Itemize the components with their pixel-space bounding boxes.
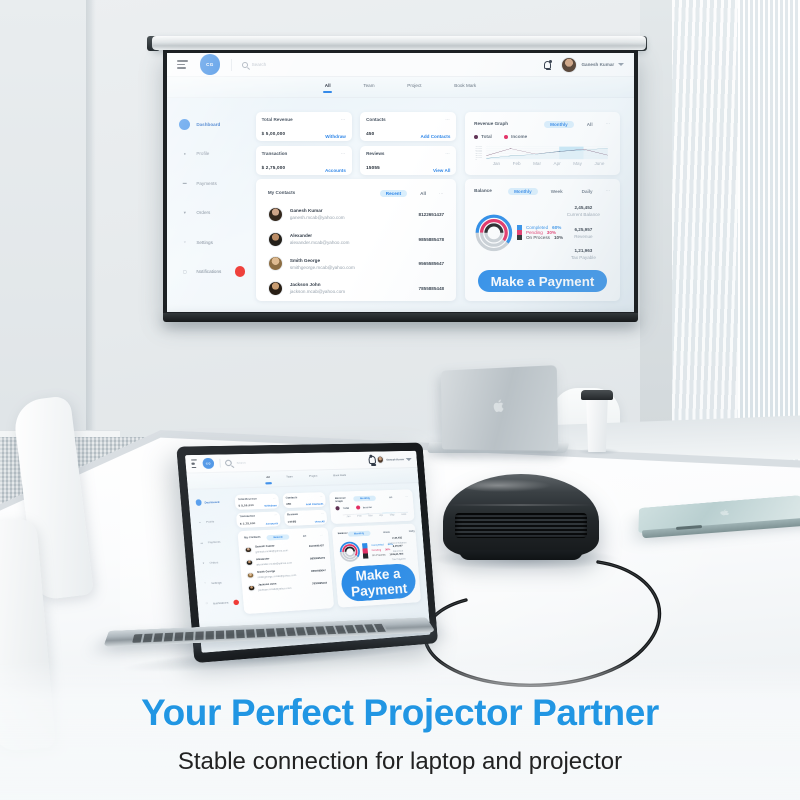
legend-label: On Process xyxy=(526,235,550,240)
sidebar-item-label: Profile xyxy=(206,521,214,525)
contact-name: Jackson John xyxy=(290,282,345,287)
contacts-filter-recent[interactable]: Recent xyxy=(380,190,407,197)
contact-email: alexander.mcab@yahoo.com xyxy=(256,561,292,566)
contact-phone: 7855885448 xyxy=(312,582,327,586)
make-a-payment-button[interactable]: Make a Payment xyxy=(478,270,606,292)
dashboard-icon xyxy=(179,119,190,130)
search-input[interactable]: Search xyxy=(242,59,322,70)
app-logo: CG xyxy=(203,458,215,469)
sidebar-item-payments[interactable]: ▬ Payments xyxy=(179,178,245,189)
product-marketing-image: CG Search Ganesh Kumar All Team xyxy=(0,0,800,800)
x-tick: Apr xyxy=(379,514,383,517)
chart-title: Revenue Graph xyxy=(474,121,508,126)
topbar-divider xyxy=(231,59,232,71)
more-icon[interactable]: ⋯ xyxy=(405,495,408,498)
projector-screen: CG Search Ganesh Kumar All Team xyxy=(163,50,638,315)
view-all-link[interactable]: View All xyxy=(315,520,325,524)
contacts-filter-all[interactable]: All xyxy=(414,190,432,197)
x-tick: Mar xyxy=(533,161,541,166)
notifications-icon[interactable] xyxy=(368,456,372,464)
legend-label: Total xyxy=(481,134,492,139)
projector-highlight xyxy=(462,479,552,492)
search-icon xyxy=(225,460,232,467)
avatar xyxy=(248,584,255,591)
search-placeholder: Search xyxy=(236,461,245,464)
x-tick: Apr xyxy=(554,161,561,166)
withdraw-link[interactable]: Withdraw xyxy=(325,134,346,139)
coffee-cup xyxy=(584,396,610,452)
card-title: My Contacts xyxy=(268,190,295,195)
contact-phone: 9855885478 xyxy=(419,237,445,242)
projected-dashboard: CG Search Ganesh Kumar All Team xyxy=(167,53,634,312)
revenue-graph-card: Revenue Graph Monthly All ⋯ xyxy=(465,112,620,175)
sidebar-item-label: Payments xyxy=(208,541,221,545)
more-icon[interactable]: ⋯ xyxy=(445,151,450,157)
sidebar-item-label: Dashboard xyxy=(196,122,220,127)
user-name: Ganesh Kumar xyxy=(581,62,614,67)
my-contacts-card: My Contacts Recent All ⋯ Ganes xyxy=(256,179,456,300)
list-item[interactable]: Alexander alexander.mcab@yahoo.com 98558… xyxy=(246,554,326,567)
more-icon[interactable]: ⋯ xyxy=(319,495,322,498)
page-subtitle: Stable connection for laptop and project… xyxy=(0,748,800,776)
projector-seam xyxy=(449,504,593,506)
dashboard-icon xyxy=(195,500,201,506)
kpi-card-contacts: Contacts ⋯ 450 Add Contacts xyxy=(360,112,456,141)
tab-team[interactable]: Team xyxy=(363,83,374,91)
card-title: Transaction xyxy=(239,515,255,519)
sidebar-item-dashboard[interactable]: Dashboard xyxy=(195,499,230,506)
list-item[interactable]: Ganesh Kumar ganesh.mcab@yahoo.com 81226… xyxy=(245,542,325,554)
window-curtain-highlight xyxy=(738,0,800,470)
more-icon[interactable]: ⋯ xyxy=(606,121,611,127)
kpi-card-total-revenue: Total Revenue ⋯ $ 5,00,000 Withdraw xyxy=(256,112,352,141)
withdraw-link[interactable]: Withdraw xyxy=(264,504,277,508)
x-tick: Jan xyxy=(493,161,500,166)
my-contacts-card: My Contacts Recent All ⋯ Ganesh xyxy=(238,527,334,613)
sidebar-item-profile[interactable]: ● Profile xyxy=(197,519,232,526)
contact-phone: 9855885478 xyxy=(310,557,325,561)
chart-filter-monthly[interactable]: Monthly xyxy=(544,121,574,128)
avatar[interactable] xyxy=(376,456,384,464)
cart-icon: ▼ xyxy=(179,207,190,218)
contacts-filter-recent[interactable]: Recent xyxy=(267,534,290,540)
projector-base xyxy=(459,550,584,560)
card-title: Balance xyxy=(474,188,492,193)
balance-card: Balance Monthly Week Daily ⋯ xyxy=(465,179,620,300)
stat-current-balance: 2,45,452 Current Balance xyxy=(556,205,611,217)
tab-project[interactable]: Project xyxy=(407,83,421,91)
balance-filter-monthly[interactable]: Monthly xyxy=(348,530,371,536)
svg-text:7000: 7000 xyxy=(476,147,484,148)
chart-plot-area: 01000200030004000500060007000 xyxy=(474,146,611,161)
stat-value: 6,25,957 xyxy=(383,544,412,548)
card-title: Reviews xyxy=(366,151,384,156)
card-title: Contacts xyxy=(366,117,386,122)
contact-name: Alexander xyxy=(290,233,350,238)
x-tick: Mar xyxy=(368,514,373,517)
sidebar-item-orders[interactable]: ▼ Orders xyxy=(200,559,235,566)
search-icon xyxy=(242,62,248,68)
gear-icon: ○ xyxy=(179,236,190,247)
legend-label: Income xyxy=(511,134,527,139)
contact-email: jackson.mcab@yahoo.com xyxy=(258,587,291,592)
add-contacts-link[interactable]: Add Contacts xyxy=(306,503,324,507)
gear-icon: ○ xyxy=(202,581,208,587)
card-title: Total Revenue xyxy=(238,497,257,501)
sidebar-item-settings[interactable]: ○ Settings xyxy=(202,579,237,587)
sidebar-item-settings[interactable]: ○ Settings xyxy=(179,236,245,247)
svg-text:3000: 3000 xyxy=(476,154,484,155)
more-icon[interactable]: ⋯ xyxy=(445,117,450,123)
avatar xyxy=(268,207,283,222)
status-badge xyxy=(233,599,239,605)
kpi-card-contacts: Contacts⋯ 450 Add Contacts xyxy=(283,492,326,508)
x-tick: Feb xyxy=(513,161,521,166)
tab-bookmark[interactable]: Book Mark xyxy=(454,83,476,91)
balance-donut-chart xyxy=(338,540,361,563)
contact-name: Jackson John xyxy=(258,581,291,586)
chart-filter-all[interactable]: All xyxy=(581,121,599,128)
card-title: Transaction xyxy=(262,151,288,156)
more-icon[interactable]: ⋯ xyxy=(274,514,278,517)
sidebar-item-orders[interactable]: ▼ Orders xyxy=(179,207,245,218)
card-icon: ▬ xyxy=(179,178,190,189)
apple-logo-icon xyxy=(493,398,506,413)
kpi-card-transaction: Transaction⋯ $ 2,75,000 Accounts xyxy=(236,512,281,528)
avatar xyxy=(246,559,253,566)
apple-logo-icon xyxy=(718,509,731,517)
balance-card: Balance Monthly Week Daily xyxy=(332,524,421,608)
list-item[interactable]: Jackson John jackson.mcab@yahoo.com 7855… xyxy=(248,579,327,592)
sidebar-item-label: Payments xyxy=(196,181,216,186)
view-all-link[interactable]: View All xyxy=(433,168,450,173)
x-tick: June xyxy=(594,161,604,166)
balance-filter-week[interactable]: Week xyxy=(545,188,569,195)
list-item[interactable]: Alexander alexander.mcab@yahoo.com 98558… xyxy=(268,232,444,247)
contact-phone: 8122651437 xyxy=(419,212,445,217)
stat-value: 6,25,957 xyxy=(556,227,611,232)
legend-label: Income xyxy=(363,506,372,509)
tab-project[interactable]: Project xyxy=(309,475,318,481)
status-badge xyxy=(235,266,246,277)
chart-filter-all[interactable]: All xyxy=(383,495,399,501)
contact-name: Ganesh Kumar xyxy=(290,208,345,213)
more-icon[interactable]: ⋯ xyxy=(321,512,324,515)
portable-projector[interactable] xyxy=(443,474,599,556)
balance-stats: 2,45,452 Current Balance 6,25,957 Revenu… xyxy=(556,200,611,264)
user-name: Ganesh Kumar xyxy=(386,458,404,461)
kpi-card-transaction: Transaction ⋯ $ 2,75,000 Accounts xyxy=(256,146,352,175)
stat-value: 1,21,963 xyxy=(384,553,413,558)
notifications-icon[interactable] xyxy=(544,61,551,69)
sidebar-item-label: Profile xyxy=(196,151,209,156)
legend-income: Income xyxy=(504,134,527,139)
contact-phone: 8122651437 xyxy=(309,544,324,548)
stat-value: 2,45,452 xyxy=(383,536,412,540)
balance-filter-daily[interactable]: Daily xyxy=(576,188,599,195)
dashboard-cards: Total Revenue ⋯ $ 5,00,000 Withdraw Cont… xyxy=(256,112,620,301)
chevron-down-icon[interactable] xyxy=(406,458,412,461)
svg-text:4000: 4000 xyxy=(476,152,484,153)
sidebar-item-notifications[interactable]: ▢ Notifications xyxy=(179,266,245,277)
search-input[interactable]: Search xyxy=(225,458,267,467)
x-tick: May xyxy=(573,161,582,166)
balance-filter-week[interactable]: Week xyxy=(377,529,396,535)
card-title: My Contacts xyxy=(244,535,261,539)
make-a-payment-button[interactable]: Make a Payment xyxy=(340,563,416,602)
avatar xyxy=(247,572,254,579)
legend-label: Completed xyxy=(371,543,384,547)
background-macbook xyxy=(441,365,558,451)
contact-name: Alexander xyxy=(256,556,292,561)
user-icon: ● xyxy=(179,148,190,159)
topbar-divider xyxy=(219,459,221,468)
sidebar-item-profile[interactable]: ● Profile xyxy=(179,148,245,159)
card-title: Contacts xyxy=(286,496,298,500)
tab-team[interactable]: Team xyxy=(286,475,293,481)
contact-email: ganesh.mcab@yahoo.com xyxy=(290,215,345,220)
projector-screen-weight-bar xyxy=(163,313,638,322)
accounts-link[interactable]: Accounts xyxy=(266,522,279,526)
sidebar-item-notifications[interactable]: ▢ Notifications xyxy=(204,599,239,607)
list-item[interactable]: Ganesh Kumar ganesh.mcab@yahoo.com 81226… xyxy=(268,207,444,222)
card-title: Total Revenue xyxy=(262,117,293,122)
contacts-filter-all[interactable]: All xyxy=(296,533,313,539)
balance-donut-chart xyxy=(474,213,514,253)
chevron-down-icon[interactable] xyxy=(618,63,624,66)
avatar xyxy=(245,546,252,553)
stat-label: Tax Payable xyxy=(556,255,611,260)
list-item[interactable]: Jackson John jackson.mcab@yahoo.com 7855… xyxy=(268,281,444,296)
projector-screen-roller xyxy=(152,36,646,50)
contact-name: Ganesh Kumar xyxy=(255,544,288,549)
svg-text:0: 0 xyxy=(476,159,479,160)
sidebar-item-label: Notifications xyxy=(196,269,221,274)
list-item[interactable]: Smith George smithgeorge.mcab@yahoo.com … xyxy=(268,256,444,271)
tab-bookmark[interactable]: Book Mark xyxy=(333,474,346,481)
search-placeholder: Search xyxy=(252,62,267,67)
sidebar-item-dashboard[interactable]: Dashboard xyxy=(179,119,245,130)
avatar xyxy=(268,281,283,296)
stat-value: 1,21,963 xyxy=(556,248,611,253)
sidebar: Dashboard ● Profile ▬ Payments ▼ Order xyxy=(179,112,245,301)
sidebar-item-label: Settings xyxy=(211,581,222,585)
stat-revenue: 6,25,957 Revenue xyxy=(556,227,611,239)
kpi-card-reviews: Reviews⋯ 15055 View All xyxy=(284,510,327,526)
contact-email: smithgeorge.mcab@yahoo.com xyxy=(257,574,296,579)
projector-vent-grill xyxy=(455,513,586,538)
menu-icon[interactable] xyxy=(177,60,188,69)
contact-email: smithgeorge.mcab@yahoo.com xyxy=(290,265,355,270)
more-icon[interactable]: ⋯ xyxy=(606,188,611,194)
balance-filter-monthly[interactable]: Monthly xyxy=(508,188,538,195)
chart-legend: Total Income xyxy=(474,134,611,139)
card-title: Balance xyxy=(338,531,348,535)
add-contacts-link[interactable]: Add Contacts xyxy=(421,134,451,139)
card-title: Reviews xyxy=(287,513,298,517)
x-tick: May xyxy=(390,514,395,517)
coffee-cup-lid xyxy=(581,390,613,400)
sidebar: Dashboard ● Profile ▬ Payments xyxy=(195,495,242,646)
more-icon[interactable]: ⋯ xyxy=(341,117,346,123)
accounts-link[interactable]: Accounts xyxy=(325,168,346,173)
svg-text:1000: 1000 xyxy=(476,157,484,158)
stat-label: Revenue xyxy=(556,234,611,239)
contact-name: Smith George xyxy=(290,258,355,263)
dashboard-tabs: All Team Project Book Mark xyxy=(167,77,634,98)
sidebar-item-label: Notifications xyxy=(213,601,229,605)
dashboard-topbar: CG Search Ganesh Kumar xyxy=(167,53,634,77)
kpi-card-reviews: Reviews ⋯ 15055 View All xyxy=(360,146,456,175)
bell-icon: ▢ xyxy=(179,266,190,277)
sidebar-item-label: Dashboard xyxy=(204,500,219,504)
x-tick: June xyxy=(401,513,407,516)
app-logo: CG xyxy=(200,54,221,75)
contact-phone: 9565585647 xyxy=(311,569,326,573)
tab-all[interactable]: All xyxy=(325,83,331,91)
stat-label: Current Balance xyxy=(556,212,611,217)
more-icon[interactable]: ⋯ xyxy=(273,496,277,499)
x-tick: Jan xyxy=(346,515,350,518)
revenue-graph-card: Revenue Graph Monthly All ⋯ Total xyxy=(329,490,415,524)
contact-email: jackson.mcab@yahoo.com xyxy=(290,289,345,294)
legend-label: Total xyxy=(343,507,349,510)
more-icon[interactable]: ⋯ xyxy=(439,191,444,197)
menu-icon[interactable] xyxy=(191,459,197,469)
more-icon[interactable]: ⋯ xyxy=(320,533,323,536)
legend-label: Pending xyxy=(372,549,382,553)
sidebar-item-label: Orders xyxy=(209,561,218,565)
chart-filter-monthly[interactable]: Monthly xyxy=(354,495,377,501)
chart-title: Revenue Graph xyxy=(335,496,354,503)
x-tick: Feb xyxy=(357,515,362,518)
contact-phone: 7855885448 xyxy=(419,286,445,291)
stat-tax-payable: 1,21,963 Tax Payable xyxy=(556,248,611,260)
stat-label: Tax Payable xyxy=(384,558,413,563)
card-icon: ▬ xyxy=(199,540,205,546)
svg-text:6000: 6000 xyxy=(476,149,484,150)
user-icon: ● xyxy=(197,520,203,526)
bell-icon: ▢ xyxy=(204,601,210,607)
page-title: Your Perfect Projector Partner xyxy=(0,692,800,734)
revenue-line-chart: 01000200030004000500060007000 xyxy=(474,146,611,161)
avatar xyxy=(268,232,283,247)
cart-icon: ▼ xyxy=(200,561,206,567)
stat-value: 2,45,452 xyxy=(556,205,611,210)
contact-name: Smith George xyxy=(257,568,296,573)
wall-corner-shadow xyxy=(86,0,96,470)
sidebar-item-label: Orders xyxy=(196,210,210,215)
contact-email: ganesh.mcab@yahoo.com xyxy=(255,549,288,554)
sidebar-item-label: Settings xyxy=(196,240,213,245)
contact-email: alexander.mcab@yahoo.com xyxy=(290,240,350,245)
kpi-card-total-revenue: Total Revenue⋯ $ 5,00,000 Withdraw xyxy=(235,494,280,510)
legend-total: Total xyxy=(474,134,492,139)
more-icon[interactable]: ⋯ xyxy=(341,151,346,157)
contact-phone: 9565585647 xyxy=(419,261,445,266)
dashboard-body: Dashboard ● Profile ▬ Payments ▼ Order xyxy=(167,98,634,312)
svg-text:2000: 2000 xyxy=(476,156,484,157)
chart-x-axis: Jan Feb Mar Apr May June xyxy=(474,161,611,166)
list-item[interactable]: Smith George smithgeorge.mcab@yahoo.com … xyxy=(247,567,327,580)
svg-text:5000: 5000 xyxy=(476,150,484,151)
avatar xyxy=(268,256,283,271)
avatar[interactable] xyxy=(561,57,577,73)
balance-filter-daily[interactable]: Daily xyxy=(403,528,421,534)
tab-all[interactable]: All xyxy=(266,476,270,482)
sidebar-item-payments[interactable]: ▬ Payments xyxy=(199,539,234,546)
